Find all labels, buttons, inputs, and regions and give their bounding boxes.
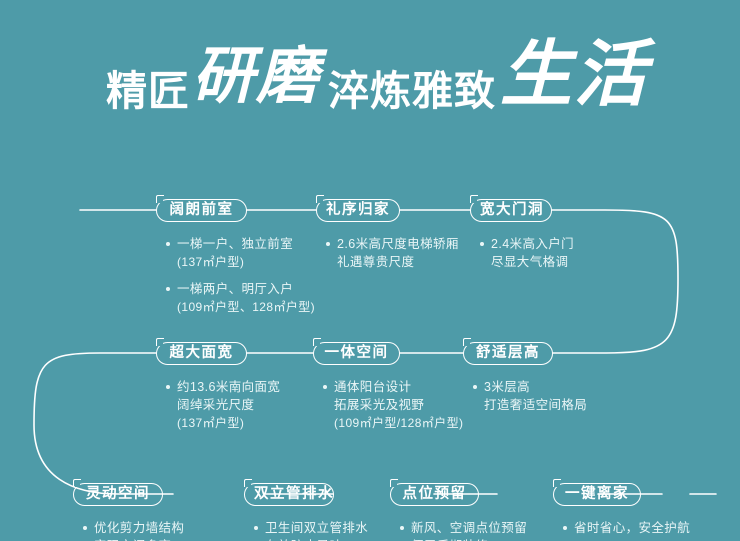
bullet-item: 一梯一户、独立前室 (137㎡户型) [166, 235, 306, 271]
pill-notch-mask [75, 482, 80, 487]
bullet-line: 3米层高 [473, 378, 623, 396]
bullet-line: 阔绰采光尺度 [166, 396, 316, 414]
headline-part-3: 淬炼雅致 [328, 71, 496, 112]
bullet-line: 有效防止异味 [254, 537, 409, 541]
pill-notch-mask [465, 341, 470, 346]
bullet-line: 打造奢适空间格局 [473, 396, 623, 414]
feature-bullets: 约13.6米南向面宽 阔绰采光尺度 (137㎡户型) [156, 378, 316, 432]
bullet-line: 一梯一户、独立前室 [166, 235, 306, 253]
feature-pill[interactable]: 双立管排水 [244, 483, 334, 506]
bullet-line: 便于后期装修 [400, 537, 555, 541]
connector-left-uturn [34, 353, 173, 494]
feature-label: 礼序归家 [326, 202, 390, 218]
bullet-item: 2.4米高入户门 尽显大气格调 [480, 235, 630, 271]
feature-node-kuandamendong[interactable]: 宽大门洞 2.4米高入户门 尽显大气格调 [470, 199, 630, 280]
feature-node-lixuguijia[interactable]: 礼序归家 2.6米高尺度电梯轿厢 礼遇尊贵尺度 [316, 199, 476, 280]
feature-label: 双立管排水 [254, 486, 334, 502]
feature-node-shushicenggao[interactable]: 舒适层高 3米层高 打造奢适空间格局 [463, 342, 623, 423]
bullet-line: (109㎡户型/128㎡户型) [323, 414, 483, 432]
poster-root: 精匠研磨淬炼雅致生活 阔朗前室 一梯一户、独立前室 (137㎡户型) [0, 0, 740, 541]
bullet-line: 卫生间双立管排水 [254, 519, 409, 537]
bullet-line: 省时省心，安全护航 [563, 519, 718, 537]
feature-bullets: 3米层高 打造奢适空间格局 [463, 378, 623, 414]
feature-pill[interactable]: 礼序归家 [316, 199, 400, 222]
pill-notch-mask [246, 482, 251, 487]
feature-node-shuanglideng-paishui[interactable]: 双立管排水 卫生间双立管排水 有效防止异味 [244, 483, 409, 541]
headline-part-1: 精匠 [106, 71, 190, 112]
feature-label: 阔朗前室 [170, 202, 234, 218]
bullet-item: 新风、空调点位预留 便于后期装修 [400, 519, 555, 541]
feature-pill[interactable]: 阔朗前室 [156, 199, 247, 222]
bullet-line: 拓展采光及视野 [323, 396, 483, 414]
feature-pill[interactable]: 一键离家 [553, 483, 641, 506]
bullet-item: 通体阳台设计 拓展采光及视野 (109㎡户型/128㎡户型) [323, 378, 483, 432]
feature-node-yitikongjian[interactable]: 一体空间 通体阳台设计 拓展采光及视野 (109㎡户型/128㎡户型) [313, 342, 483, 441]
feature-node-kuolangqianshi[interactable]: 阔朗前室 一梯一户、独立前室 (137㎡户型) 一梯两户、明厅入户 (109㎡户… [156, 199, 306, 325]
bullet-item: 卫生间双立管排水 有效防止异味 [254, 519, 409, 541]
pill-notch-mask [392, 482, 397, 487]
headline-part-2: 研磨 [192, 45, 320, 107]
feature-label: 超大面宽 [170, 345, 234, 361]
bullet-line: 实现空间多变 [83, 537, 233, 541]
bullet-line: 一梯两户、明厅入户 [166, 280, 306, 298]
bullet-line: (137㎡户型) [166, 253, 306, 271]
bullet-item: 省时省心，安全护航 [563, 519, 718, 537]
bullet-item: 约13.6米南向面宽 阔绰采光尺度 (137㎡户型) [166, 378, 316, 432]
bullet-line: 优化剪力墙结构 [83, 519, 233, 537]
feature-label: 宽大门洞 [480, 202, 544, 218]
bullet-line: 2.4米高入户门 [480, 235, 630, 253]
feature-bullets: 新风、空调点位预留 便于后期装修 [390, 519, 555, 541]
headline-part-4: 生活 [500, 38, 648, 110]
feature-bullets: 优化剪力墙结构 实现空间多变 [73, 519, 233, 541]
bullet-line: (137㎡户型) [166, 414, 316, 432]
pill-notch-mask [315, 341, 320, 346]
feature-node-yijianlijia[interactable]: 一键离家 省时省心，安全护航 [553, 483, 718, 541]
bullet-line: 尽显大气格调 [480, 253, 630, 271]
feature-label: 灵动空间 [86, 486, 150, 502]
feature-pill[interactable]: 灵动空间 [73, 483, 163, 506]
bullet-line: 礼遇尊贵尺度 [326, 253, 476, 271]
feature-bullets: 一梯一户、独立前室 (137㎡户型) 一梯两户、明厅入户 (109㎡户型、128… [156, 235, 306, 316]
feature-bullets: 省时省心，安全护航 [553, 519, 718, 537]
feature-pill[interactable]: 一体空间 [313, 342, 400, 365]
feature-pill[interactable]: 点位预留 [390, 483, 479, 506]
feature-label: 舒适层高 [476, 345, 540, 361]
feature-pill[interactable]: 舒适层高 [463, 342, 553, 365]
pill-notch-mask [318, 198, 323, 203]
page-title: 精匠研磨淬炼雅致生活 [0, 34, 740, 144]
bullet-item: 2.6米高尺度电梯轿厢 礼遇尊贵尺度 [326, 235, 476, 271]
feature-bullets: 2.4米高入户门 尽显大气格调 [470, 235, 630, 271]
bullet-line: 通体阳台设计 [323, 378, 483, 396]
feature-pill[interactable]: 宽大门洞 [470, 199, 552, 222]
feature-node-chaodamiankuan[interactable]: 超大面宽 约13.6米南向面宽 阔绰采光尺度 (137㎡户型) [156, 342, 316, 441]
feature-pill[interactable]: 超大面宽 [156, 342, 247, 365]
bullet-item: 优化剪力墙结构 实现空间多变 [83, 519, 233, 541]
bullet-item: 一梯两户、明厅入户 (109㎡户型、128㎡户型) [166, 280, 306, 316]
pill-notch-mask [472, 198, 477, 203]
feature-node-lingdongkongjian[interactable]: 灵动空间 优化剪力墙结构 实现空间多变 [73, 483, 233, 541]
pill-notch-mask [158, 341, 163, 346]
bullet-line: 约13.6米南向面宽 [166, 378, 316, 396]
feature-label: 一键离家 [565, 486, 629, 502]
feature-label: 点位预留 [403, 486, 467, 502]
pill-notch-mask [158, 198, 163, 203]
feature-bullets: 2.6米高尺度电梯轿厢 礼遇尊贵尺度 [316, 235, 476, 271]
feature-bullets: 通体阳台设计 拓展采光及视野 (109㎡户型/128㎡户型) [313, 378, 483, 432]
bullet-line: 新风、空调点位预留 [400, 519, 555, 537]
feature-bullets: 卫生间双立管排水 有效防止异味 [244, 519, 409, 541]
feature-node-dianweiyuliu[interactable]: 点位预留 新风、空调点位预留 便于后期装修 [390, 483, 555, 541]
bullet-line: 2.6米高尺度电梯轿厢 [326, 235, 476, 253]
bullet-item: 3米层高 打造奢适空间格局 [473, 378, 623, 414]
pill-notch-mask [555, 482, 560, 487]
feature-label: 一体空间 [325, 345, 389, 361]
bullet-line: (109㎡户型、128㎡户型) [166, 298, 306, 316]
